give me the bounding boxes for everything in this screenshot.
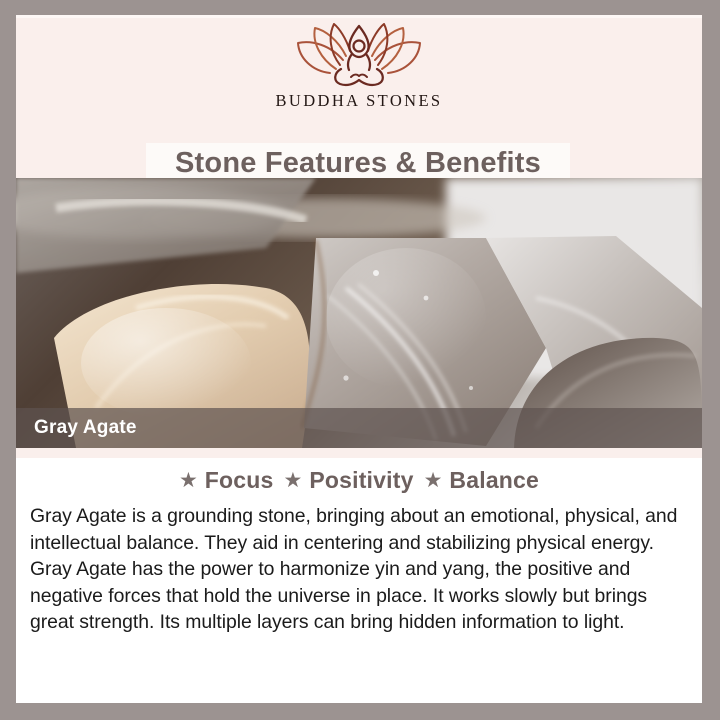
benefit-keyword-label: Positivity xyxy=(309,467,413,494)
body-top-strip xyxy=(16,448,702,458)
benefit-keyword-row: ★ Focus ★ Positivity ★ Balance xyxy=(16,467,702,494)
title-banner: Stone Features & Benefits xyxy=(146,143,570,183)
page-title: Stone Features & Benefits xyxy=(175,147,541,180)
benefit-keyword-positivity: ★ Positivity xyxy=(284,467,414,494)
page-frame: BUDDHA STONES Stone Features & Benefits xyxy=(0,0,720,720)
star-icon: ★ xyxy=(424,470,443,491)
brand-logo-block: BUDDHA STONES xyxy=(16,23,702,111)
stone-description: Gray Agate is a grounding stone, bringin… xyxy=(30,503,688,636)
card-header: BUDDHA STONES Stone Features & Benefits xyxy=(16,15,702,178)
benefit-keyword-balance: ★ Balance xyxy=(424,467,539,494)
benefit-keyword-label: Focus xyxy=(205,467,274,494)
benefit-keyword-focus: ★ Focus xyxy=(179,467,274,494)
stone-name-label: Gray Agate xyxy=(34,417,137,439)
star-icon: ★ xyxy=(179,470,198,491)
stone-photo: Gray Agate xyxy=(16,178,702,448)
benefit-keyword-label: Balance xyxy=(449,467,539,494)
card-body: ★ Focus ★ Positivity ★ Balance Gray Agat… xyxy=(16,448,702,703)
lotus-meditation-figure-icon xyxy=(284,23,434,87)
info-card: BUDDHA STONES Stone Features & Benefits xyxy=(16,15,702,703)
brand-name: BUDDHA STONES xyxy=(16,91,702,111)
star-icon: ★ xyxy=(284,470,303,491)
photo-caption-bar: Gray Agate xyxy=(16,408,702,448)
